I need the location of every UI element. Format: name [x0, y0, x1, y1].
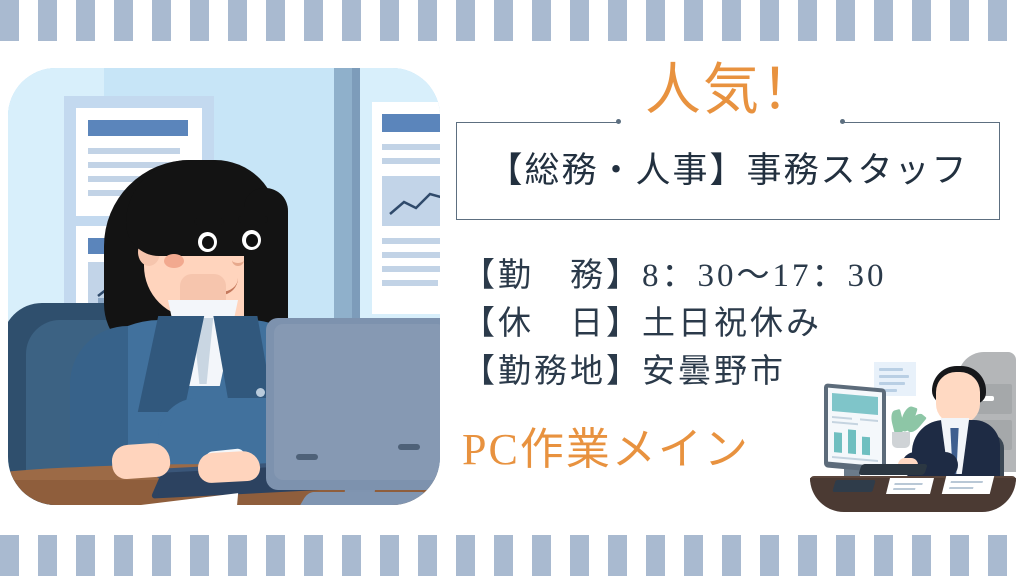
top-stripe-border [0, 0, 1024, 41]
monitor-vent [398, 444, 420, 450]
note-line [879, 375, 909, 378]
woman-hand-left [111, 442, 171, 480]
poster-text-line [382, 280, 438, 286]
note-line [879, 382, 905, 385]
job-title: 【総務・人事】事務スタッフ [456, 150, 1000, 192]
wall-poster-right [372, 102, 440, 314]
dashboard-bar [848, 429, 856, 454]
poster-text-line [88, 148, 180, 154]
job-advertisement-poster: 人気！ 【総務・人事】事務スタッフ 【勤 務】8：30〜17：30 【休 日】土… [0, 0, 1024, 576]
woman-pupil-left [202, 236, 214, 249]
suit-button [256, 388, 265, 397]
footer-tagline: PC作業メイン [462, 422, 750, 478]
main-illustration-card [8, 68, 440, 505]
document-line [894, 483, 922, 485]
detail-value-holidays: 土日祝休み [642, 306, 822, 342]
mini-document [942, 476, 994, 494]
poster-title-bar [382, 114, 440, 132]
plant-pot [892, 432, 910, 448]
note-line [879, 368, 903, 371]
poster-text-line [382, 266, 440, 272]
poster-line-chart-svg [382, 176, 440, 226]
poster-text-line [382, 238, 440, 244]
headline-popular: 人気！ [612, 62, 852, 120]
man-head [936, 372, 980, 424]
monitor-stand-base [296, 492, 428, 505]
woman-hand-right [197, 450, 260, 483]
document-line [893, 488, 915, 490]
mini-document [886, 478, 934, 494]
bottom-stripe-border [0, 535, 1024, 576]
woman-nose [232, 254, 244, 266]
dashboard-text-line [832, 416, 852, 420]
dashboard-bar [834, 432, 842, 453]
detail-label-hours: 【勤 務】 [462, 258, 642, 294]
monitor-vent [296, 454, 318, 460]
detail-label-location: 【勤務地】 [462, 354, 642, 390]
dashboard-area-chart [832, 393, 878, 415]
mini-keyboard [858, 464, 928, 475]
dashboard-text-line [832, 421, 858, 425]
detail-row-hours: 【勤 務】8：30〜17：30 [462, 252, 887, 300]
detail-row-holidays: 【休 日】土日祝休み [462, 300, 887, 348]
dashboard-text-line [832, 456, 878, 462]
mini-illustration [806, 342, 1024, 524]
poster-text-line [382, 144, 440, 150]
dashboard-text-line [860, 418, 878, 422]
poster-chart-area [382, 176, 440, 226]
document-line [950, 481, 982, 483]
detail-value-hours: 8：30〜17：30 [642, 258, 887, 294]
detail-label-holidays: 【休 日】 [462, 306, 642, 342]
woman-cheek [164, 254, 184, 268]
document-line [949, 487, 973, 489]
woman-eyebrow-right [238, 216, 268, 223]
poster-text-line [382, 158, 440, 164]
poster-text-line [382, 252, 440, 258]
poster-title-bar [88, 120, 188, 136]
woman-eyebrow-left [194, 218, 224, 225]
detail-value-location: 安曇野市 [642, 354, 786, 390]
mini-monitor-screen [828, 388, 882, 467]
woman-pupil-right [246, 234, 258, 247]
dashboard-bar [862, 437, 870, 456]
notebook [832, 480, 875, 492]
